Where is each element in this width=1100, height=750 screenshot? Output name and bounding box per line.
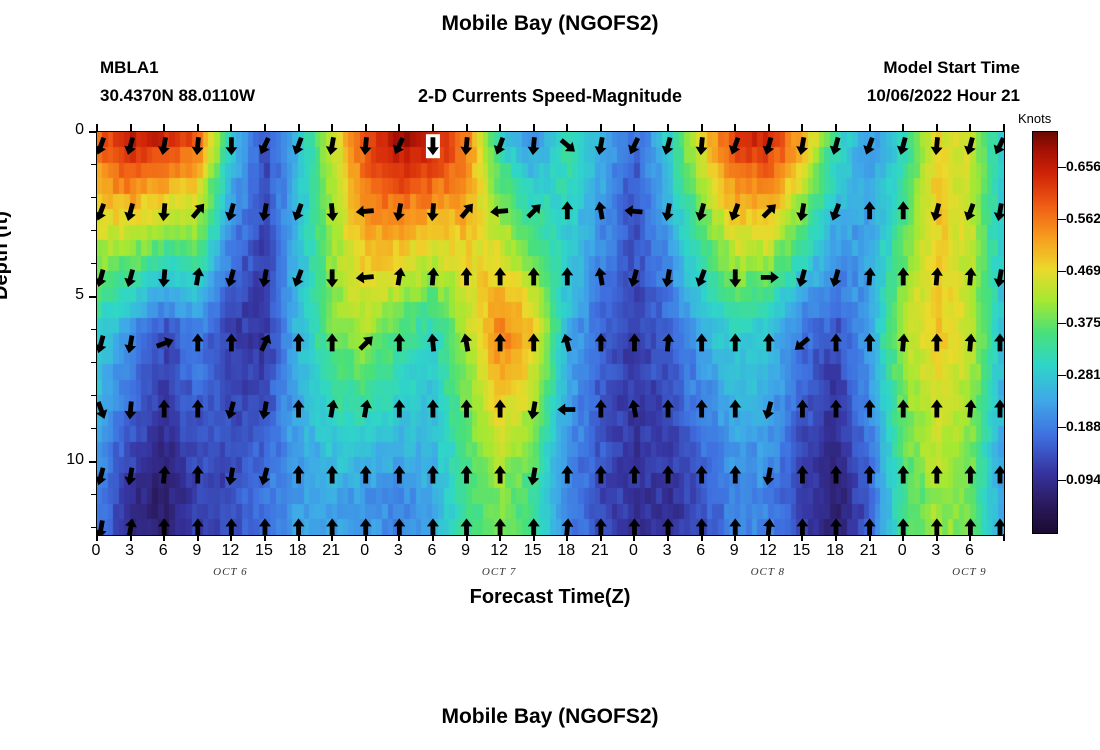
current-vector-arrow (490, 205, 509, 219)
x-axis-major-tick (432, 534, 434, 541)
x-axis-top-tick (835, 124, 837, 131)
current-vector-arrow (729, 518, 741, 535)
x-axis-major-tick (96, 534, 98, 541)
x-axis-top-tick (298, 124, 300, 131)
current-vector-arrow (729, 399, 741, 417)
colorbar-tick-label: 0.375 (1066, 314, 1100, 330)
current-vector-arrow (427, 399, 439, 417)
current-vector-arrow (696, 399, 708, 417)
current-vector-arrow (491, 136, 508, 157)
current-vector-arrow (761, 467, 776, 487)
current-vector-arrow (796, 399, 808, 417)
current-vector-arrow (660, 136, 676, 156)
y-axis-label: Depth (ft) (0, 211, 13, 300)
y-axis-major-tick (89, 131, 97, 133)
x-axis-top-tick (533, 124, 535, 131)
current-vector-arrow (729, 333, 741, 351)
current-vector-arrow (830, 399, 842, 417)
current-vector-arrow (223, 400, 239, 420)
current-vector-arrow (97, 136, 109, 157)
x-axis-major-tick (466, 534, 468, 541)
x-axis-major-tick (398, 534, 400, 541)
current-vector-arrow (760, 400, 776, 420)
current-vector-arrow (593, 266, 608, 286)
current-vector-arrow (157, 269, 171, 288)
colorbar (1032, 131, 1058, 534)
current-vector-arrow (123, 334, 138, 354)
current-vector-arrow (693, 202, 709, 222)
current-vector-arrow (660, 202, 675, 222)
current-vector-arrow (561, 201, 573, 219)
current-vector-arrow (289, 136, 306, 157)
current-vector-arrow (593, 136, 608, 156)
current-vector-arrow (961, 202, 978, 223)
current-vector-arrow (729, 466, 741, 484)
current-vector-arrow (494, 267, 506, 285)
x-axis-top-tick (667, 124, 669, 131)
current-vector-arrow (494, 399, 506, 417)
current-vector-arrow (461, 267, 473, 285)
current-vector-arrow (494, 333, 506, 351)
current-vector-arrow (593, 200, 608, 220)
current-vector-arrow (628, 466, 640, 484)
current-vector-arrow (158, 465, 172, 484)
current-vector-arrow (864, 518, 876, 535)
current-vector-arrow (595, 518, 607, 535)
current-vector-arrow (225, 137, 237, 155)
current-vector-arrow (625, 135, 643, 156)
current-vector-arrow (795, 136, 810, 156)
page-title: Mobile Bay (NGOFS2) (0, 12, 1100, 36)
y-axis-minor-tick (91, 329, 96, 330)
x-axis-major-tick (130, 534, 132, 541)
current-vector-arrow (930, 267, 944, 286)
current-vector-arrow (326, 269, 338, 287)
current-vector-arrow (559, 332, 575, 352)
current-vector-arrow (158, 399, 170, 417)
x-axis-major-tick (768, 534, 770, 541)
x-axis-major-tick (801, 534, 803, 541)
current-vector-arrow (356, 332, 377, 353)
current-vector-arrow (427, 518, 439, 535)
x-axis-top-tick (432, 124, 434, 131)
current-vector-arrow (526, 467, 541, 487)
current-vector-arrow (325, 399, 340, 419)
current-vector-arrow (360, 466, 372, 484)
current-vector-arrow (122, 136, 138, 156)
current-vector-arrow (897, 201, 909, 219)
current-vector-arrow (192, 518, 204, 535)
current-vector-arrow (561, 466, 573, 484)
x-axis-top-tick (130, 124, 132, 131)
current-vector-arrow (97, 519, 108, 535)
current-vector-arrow (123, 518, 138, 535)
current-vector-arrow (426, 203, 440, 222)
current-vector-arrow (864, 466, 876, 484)
current-vector-arrow (158, 518, 170, 535)
colorbar-tick-label: 0.469 (1066, 262, 1100, 278)
current-vector-arrow (830, 466, 842, 484)
current-vector-arrow (964, 399, 978, 418)
current-vector-arrow (192, 333, 204, 351)
x-axis-top-tick (230, 124, 232, 131)
colorbar-tick-mark (1058, 219, 1066, 220)
current-vector-arrow (426, 333, 440, 352)
x-axis-top-tick (734, 124, 736, 131)
current-vector-arrow (459, 333, 474, 353)
x-axis-top-tick (936, 124, 938, 131)
x-axis-major-tick (633, 534, 635, 541)
station-id-label: MBLA1 (100, 58, 159, 78)
x-axis-top-tick (969, 124, 971, 131)
current-vector-arrow (528, 267, 540, 285)
current-vector-arrow (393, 399, 405, 417)
current-vector-arrow (390, 135, 408, 156)
current-vector-arrow (895, 136, 911, 156)
current-vector-arrow (122, 268, 138, 288)
current-vector-arrow (759, 200, 780, 221)
current-vector-arrow (392, 266, 407, 286)
x-axis-top-tick (466, 124, 468, 131)
current-vector-arrow (994, 466, 1004, 484)
current-vector-arrow (259, 518, 271, 535)
current-vector-arrow (696, 466, 708, 484)
current-vector-arrow (461, 399, 473, 417)
current-vector-arrow (931, 518, 943, 535)
x-axis-day-label: OCT 9 (924, 566, 1014, 578)
x-axis-major-tick (533, 534, 535, 541)
y-axis-minor-tick (91, 263, 96, 264)
y-axis-minor-tick (91, 428, 96, 429)
y-axis-tick-label: 10 (44, 451, 84, 469)
x-axis-top-tick (902, 124, 904, 131)
x-axis-major-tick (566, 534, 568, 541)
current-vector-arrow (157, 203, 171, 222)
current-vector-arrow (97, 202, 109, 223)
current-vector-arrow (192, 399, 204, 417)
current-vector-arrow (992, 268, 1004, 288)
x-axis-top-tick (96, 124, 98, 131)
current-vector-arrow (863, 267, 877, 286)
current-vector-arrow (325, 136, 340, 156)
current-vector-arrow (994, 399, 1004, 417)
current-vector-arrow (930, 137, 944, 156)
y-axis-minor-tick (91, 527, 96, 528)
x-axis-major-tick (835, 534, 837, 541)
current-vector-arrow (763, 333, 775, 351)
current-vector-arrow (994, 333, 1004, 351)
current-vector-arrow (257, 268, 272, 288)
current-vector-arrow (224, 467, 239, 487)
current-vector-arrow (695, 137, 709, 156)
current-vector-arrow (897, 399, 909, 417)
y-axis-minor-tick (91, 164, 96, 165)
current-vector-arrow (223, 202, 239, 222)
x-axis-major-tick (1003, 534, 1005, 541)
current-vector-arrow (897, 466, 909, 484)
current-vector-arrow (360, 518, 372, 535)
current-vector-arrow (392, 202, 407, 222)
x-axis-top-tick (264, 124, 266, 131)
colorbar-tick-label: 0.094 (1066, 471, 1100, 487)
current-vector-arrow (791, 334, 813, 355)
x-axis-major-tick (667, 534, 669, 541)
colorbar-tick-label: 0.188 (1066, 418, 1100, 434)
current-vector-arrow (830, 333, 842, 351)
current-vector-arrow (964, 267, 978, 286)
current-vector-arrow (897, 267, 909, 285)
current-vector-arrow (393, 518, 405, 535)
x-axis-top-tick (600, 124, 602, 131)
current-vector-arrow (864, 399, 876, 417)
current-vector-arrow (190, 266, 205, 286)
bottom-title: Mobile Bay (NGOFS2) (0, 705, 1100, 729)
current-vector-arrow (293, 399, 305, 417)
current-vector-arrow (359, 137, 373, 156)
x-axis-top-tick (398, 124, 400, 131)
current-vector-arrow (257, 202, 272, 222)
current-vector-arrow (223, 268, 239, 288)
current-vector-arrow (97, 400, 110, 421)
x-axis-top-tick (163, 124, 165, 131)
current-vector-arrow (931, 466, 943, 484)
x-axis-top-tick (701, 124, 703, 131)
x-axis-top-tick (331, 124, 333, 131)
current-vector-arrow (861, 136, 878, 157)
current-vector-arrow (830, 518, 842, 535)
current-vector-arrow (192, 466, 204, 484)
current-vector-arrow (595, 333, 607, 351)
current-vector-arrow (696, 518, 708, 535)
current-vector-arrow (526, 401, 541, 421)
current-vector-arrow (427, 466, 439, 484)
current-vector-arrow (990, 135, 1004, 156)
current-vector-arrow (494, 518, 506, 535)
current-vector-arrow (257, 401, 272, 421)
x-axis-top-tick (1003, 124, 1005, 131)
current-vector-arrow (796, 518, 808, 535)
y-axis-tick-label: 5 (44, 286, 84, 304)
current-vector-arrow (557, 135, 579, 156)
current-vector-arrow (994, 518, 1004, 535)
chart-page: Mobile Bay (NGOFS2) MBLA1 30.4370N 88.01… (0, 0, 1100, 750)
colorbar-tick-mark (1058, 271, 1066, 272)
current-vector-arrow (660, 268, 675, 288)
current-vector-arrow (289, 202, 306, 223)
x-axis-top-tick (365, 124, 367, 131)
y-axis-tick-label: 0 (44, 121, 84, 139)
current-vector-arrow (662, 399, 674, 417)
current-vector-arrow (928, 202, 944, 222)
current-vector-arrow (524, 200, 545, 221)
current-vector-arrow (527, 137, 541, 156)
current-vector-arrow (628, 333, 640, 351)
current-vector-arrow (124, 401, 138, 420)
current-vector-arrow (325, 203, 339, 222)
x-axis-major-tick (298, 534, 300, 541)
current-vector-arrow (992, 202, 1004, 222)
current-vector-arrow (760, 136, 776, 156)
current-vector-arrow (661, 333, 675, 352)
current-vector-arrow (191, 137, 205, 156)
current-vector-arrow (561, 267, 573, 285)
current-vector-arrow (355, 271, 374, 285)
x-axis-major-tick (701, 534, 703, 541)
current-vector-arrow (188, 200, 209, 222)
current-vector-arrow (828, 268, 844, 288)
current-vector-arrow (662, 466, 674, 484)
y-axis-minor-tick (91, 230, 96, 231)
colorbar-tick-mark (1058, 427, 1066, 428)
x-axis-major-tick (600, 534, 602, 541)
y-axis-minor-tick (91, 395, 96, 396)
current-vector-arrow (326, 518, 338, 535)
current-vector-arrow (326, 333, 338, 351)
current-vector-arrow (358, 399, 373, 419)
x-axis-top-tick (566, 124, 568, 131)
current-vector-arrow (696, 333, 708, 351)
current-vector-arrow (762, 518, 776, 535)
x-axis-tick-label: 6 (949, 542, 989, 560)
current-vector-arrow (726, 136, 743, 157)
current-vector-arrow (626, 268, 642, 288)
x-axis-label: Forecast Time(Z) (0, 586, 1100, 609)
current-vector-arrow (726, 202, 743, 223)
current-vector-arrow (355, 205, 374, 219)
current-vector-arrow (460, 137, 474, 156)
heatmap-plot-area (96, 131, 1005, 536)
current-vector-arrow (225, 518, 237, 535)
current-vector-arrow (157, 136, 172, 156)
current-vector-arrow (962, 136, 978, 156)
y-axis-major-tick (89, 296, 97, 298)
current-vector-arrow (426, 267, 440, 286)
current-vector-arrow (293, 466, 305, 484)
current-vector-arrow (897, 333, 911, 352)
current-vector-arrow (289, 268, 306, 289)
colorbar-tick-mark (1058, 167, 1066, 168)
current-vector-arrow (761, 271, 779, 283)
current-vector-arrow (256, 332, 274, 353)
model-start-time-label: Model Start Time (883, 58, 1020, 78)
x-axis-day-label: OCT 8 (723, 566, 813, 578)
current-vector-arrow (864, 201, 876, 219)
x-axis-day-label: OCT 6 (185, 566, 275, 578)
x-axis-major-tick (331, 534, 333, 541)
current-vector-arrow (693, 268, 710, 289)
colorbar-tick-label: 0.562 (1066, 210, 1100, 226)
current-vector-arrow (528, 518, 540, 535)
x-axis-major-tick (499, 534, 501, 541)
current-vector-arrow (97, 466, 109, 486)
current-vector-arrow (528, 333, 540, 351)
current-vector-arrow (255, 135, 273, 156)
x-axis-major-tick (197, 534, 199, 541)
current-vector-arrow (796, 466, 808, 484)
colorbar-tick-mark (1058, 323, 1066, 324)
current-vector-arrow (561, 518, 575, 535)
current-vector-arrow (97, 268, 109, 288)
x-axis-major-tick (734, 534, 736, 541)
current-vector-arrow (123, 467, 138, 487)
current-vector-arrow (97, 334, 109, 354)
current-vector-arrow (627, 399, 642, 419)
current-vector-arrow (293, 518, 305, 535)
current-vector-arrow (964, 333, 978, 352)
x-axis-top-tick (633, 124, 635, 131)
current-vector-arrow (122, 202, 138, 222)
colorbar-tick-label: 0.656 (1066, 158, 1100, 174)
current-vector-arrow (628, 518, 640, 535)
model-start-time-value: 10/06/2022 Hour 21 (867, 86, 1020, 106)
current-vector-arrow (662, 518, 674, 535)
y-axis-minor-tick (91, 362, 96, 363)
current-vector-arrow (624, 204, 643, 218)
x-axis-major-tick (365, 534, 367, 541)
colorbar-tick-mark (1058, 375, 1066, 376)
x-axis-major-tick (902, 534, 904, 541)
colorbar-tick-label: 0.281 (1066, 366, 1100, 382)
current-vector-arrow (457, 200, 478, 222)
current-vector-arrow (393, 466, 405, 484)
current-vector-arrow (931, 333, 943, 351)
current-vector-arrow (864, 333, 876, 351)
current-vector-arrow (595, 399, 607, 417)
current-vector-arrow (931, 399, 943, 417)
x-axis-major-tick (163, 534, 165, 541)
current-vector-arrow (257, 466, 273, 486)
current-vector-arrow (964, 466, 976, 484)
current-vector-arrow (461, 466, 473, 484)
current-vector-arrow (897, 518, 909, 535)
x-axis-major-tick (936, 534, 938, 541)
current-vector-arrow (827, 202, 844, 223)
current-vector-arrow (964, 518, 976, 535)
current-vector-arrow (155, 334, 176, 351)
colorbar-title: Knots (1018, 111, 1051, 126)
x-axis-top-tick (768, 124, 770, 131)
x-axis-major-tick (264, 534, 266, 541)
current-vector-arrow (729, 269, 741, 287)
current-vector-arrow (461, 518, 473, 535)
current-vector-arrow (393, 333, 405, 351)
x-axis-top-tick (499, 124, 501, 131)
y-axis-minor-tick (91, 197, 96, 198)
current-vector-arrow (494, 466, 506, 484)
x-axis-major-tick (869, 534, 871, 541)
x-axis-major-tick (969, 534, 971, 541)
x-axis-top-tick (197, 124, 199, 131)
x-axis-major-tick (230, 534, 232, 541)
current-direction-vector-field (97, 132, 1004, 535)
current-vector-arrow (225, 333, 237, 351)
current-vector-arrow (293, 333, 305, 351)
current-vector-arrow (795, 202, 810, 222)
x-axis-day-label: OCT 7 (454, 566, 544, 578)
x-axis-top-tick (801, 124, 803, 131)
current-vector-arrow (794, 268, 810, 288)
current-vector-arrow (557, 403, 575, 415)
current-vector-arrow (326, 466, 338, 484)
colorbar-tick-mark (1058, 480, 1066, 481)
current-vector-arrow (595, 466, 607, 484)
y-axis-major-tick (89, 461, 97, 463)
x-axis-top-tick (869, 124, 871, 131)
y-axis-minor-tick (91, 494, 96, 495)
current-vector-arrow (828, 136, 844, 156)
